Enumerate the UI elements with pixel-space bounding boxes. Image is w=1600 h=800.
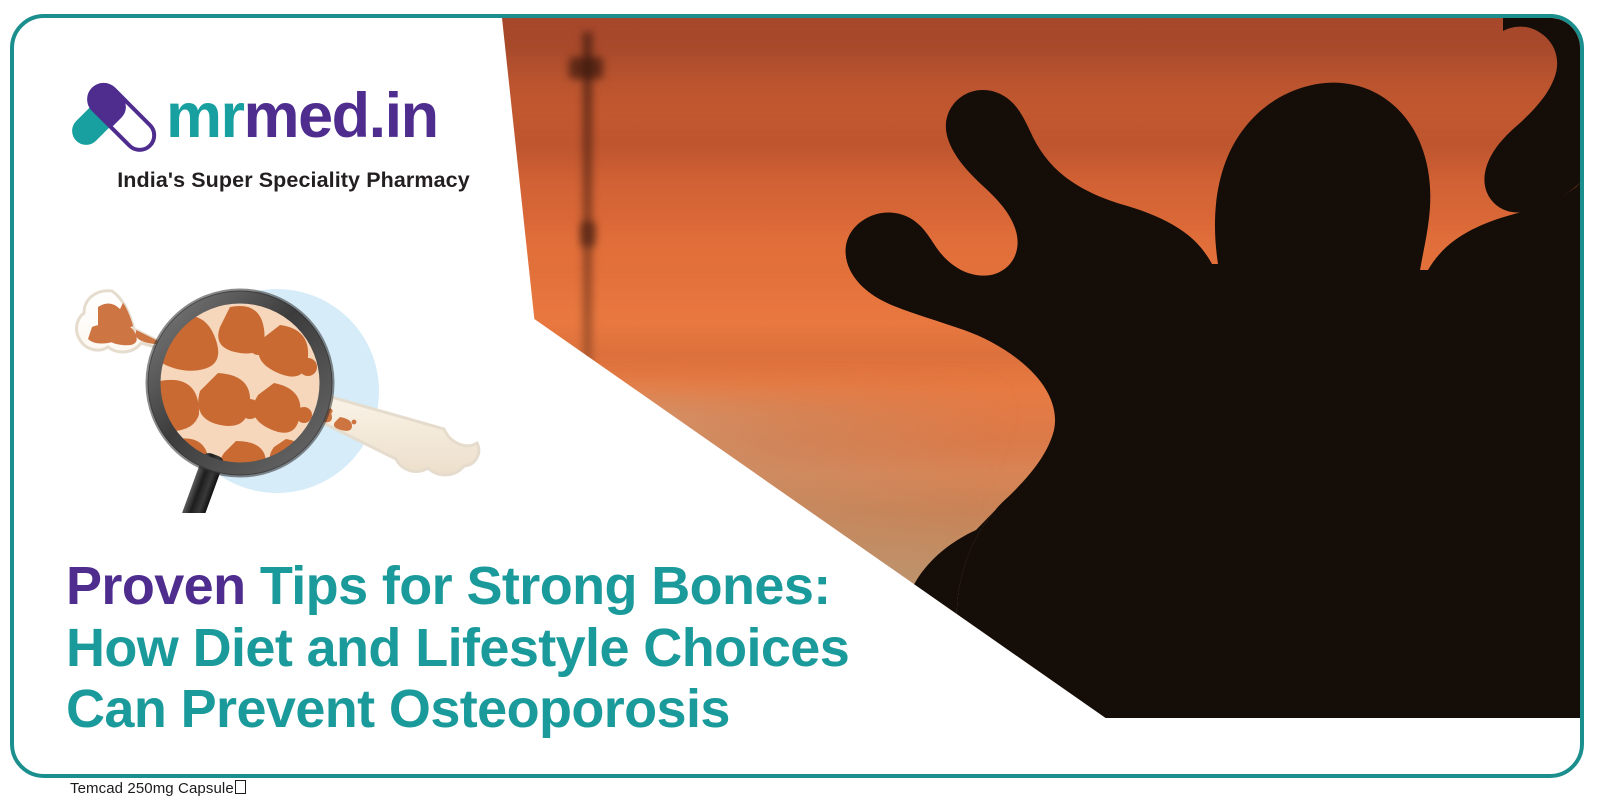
- caption-text: Temcad 250mg Capsule: [70, 780, 246, 797]
- brand-wordmark-med: med.in: [244, 81, 438, 151]
- capsule-checkmark-icon: [66, 77, 162, 155]
- headline-line-2: How Diet and Lifestyle Choices: [66, 618, 1026, 680]
- brand-logo[interactable]: mrmed.in India's Super Speciality Pharma…: [66, 76, 536, 193]
- headline-line-1-rest: Tips for Strong Bones:: [245, 556, 830, 616]
- brand-tagline: India's Super Speciality Pharmacy: [66, 168, 521, 193]
- rounded-banner-frame: mrmed.in India's Super Speciality Pharma…: [10, 14, 1584, 778]
- bone-with-magnifier-icon: [72, 263, 482, 513]
- headline-line-1: Proven Tips for Strong Bones:: [66, 556, 1026, 618]
- brand-wordmark: mrmed.in: [166, 85, 438, 148]
- banner-canvas: mrmed.in India's Super Speciality Pharma…: [0, 0, 1600, 800]
- brand-wordmark-mr: mr: [166, 81, 244, 151]
- headline-accent-word: Proven: [66, 556, 245, 616]
- logo-row: mrmed.in: [66, 76, 536, 156]
- headline-line-3: Can Prevent Osteoporosis: [66, 679, 1026, 741]
- page-title: Proven Tips for Strong Bones: How Diet a…: [66, 556, 1026, 741]
- missing-glyph-box: [235, 780, 246, 794]
- caption-label: Temcad 250mg Capsule: [70, 780, 234, 797]
